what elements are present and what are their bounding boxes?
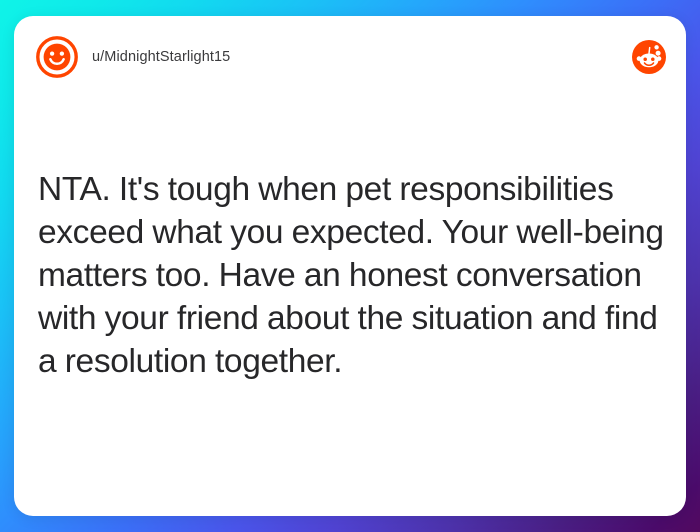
author-username[interactable]: u/MidnightStarlight15 (92, 49, 230, 65)
smiley-face-avatar-icon (36, 36, 78, 78)
gradient-background: u/MidnightStarlight15 (0, 0, 700, 532)
card-header: u/MidnightStarlight15 (14, 16, 686, 98)
comment-text: NTA. It's tough when pet responsibilitie… (38, 168, 668, 383)
card-body: NTA. It's tough when pet responsibilitie… (14, 98, 686, 516)
reddit-comment-card: u/MidnightStarlight15 (14, 16, 686, 516)
reddit-snoo-icon[interactable] (632, 40, 666, 74)
